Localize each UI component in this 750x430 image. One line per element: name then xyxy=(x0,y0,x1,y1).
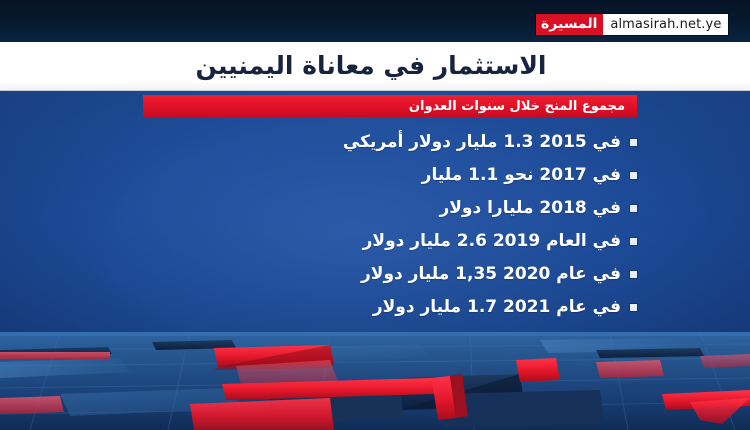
subtitle-bar: مجموع المنح خلال سنوات العدوان xyxy=(143,95,637,117)
list-item-label: في 2015 1.3 مليار دولار أمريكي xyxy=(343,134,621,151)
statistics-list: في 2015 1.3 مليار دولار أمريكي في 2017 ن… xyxy=(77,128,637,326)
list-item: في عام 2020 1,35 مليار دولار xyxy=(77,260,637,289)
list-item: في عام 2021 1.7 مليار دولار xyxy=(77,293,637,322)
site-url-label: almasirah.net.ye xyxy=(603,14,728,35)
square-bullet-icon xyxy=(630,205,637,212)
almasirah-logo-mark: المسيرة xyxy=(536,14,603,35)
list-item-label: في عام 2020 1,35 مليار دولار xyxy=(361,266,621,283)
page-title: الاستثمار في معاناة اليمنيين xyxy=(0,51,750,80)
site-logo[interactable]: almasirah.net.ye المسيرة xyxy=(536,14,728,35)
list-item: في 2018 مليارا دولار xyxy=(77,194,637,223)
list-item-label: في عام 2021 1.7 مليار دولار xyxy=(373,299,621,316)
list-item-label: في 2018 مليارا دولار xyxy=(439,200,621,217)
list-item-label: في العام 2019 2.6 مليار دولار xyxy=(363,233,621,250)
footer-3d-graphic xyxy=(0,332,750,430)
square-bullet-icon xyxy=(630,238,637,245)
list-item-label: في 2017 نحو 1.1 مليار xyxy=(422,167,621,184)
list-item: في 2017 نحو 1.1 مليار xyxy=(77,161,637,190)
subtitle-label: مجموع المنح خلال سنوات العدوان xyxy=(409,100,625,113)
square-bullet-icon xyxy=(630,139,637,146)
list-item: في العام 2019 2.6 مليار دولار xyxy=(77,227,637,256)
infographic-canvas: almasirah.net.ye المسيرة الاستثمار في مع… xyxy=(0,0,750,430)
title-band: الاستثمار في معاناة اليمنيين xyxy=(0,42,750,91)
square-bullet-icon xyxy=(630,172,637,179)
square-bullet-icon xyxy=(630,304,637,311)
list-item: في 2015 1.3 مليار دولار أمريكي xyxy=(77,128,637,157)
square-bullet-icon xyxy=(630,271,637,278)
